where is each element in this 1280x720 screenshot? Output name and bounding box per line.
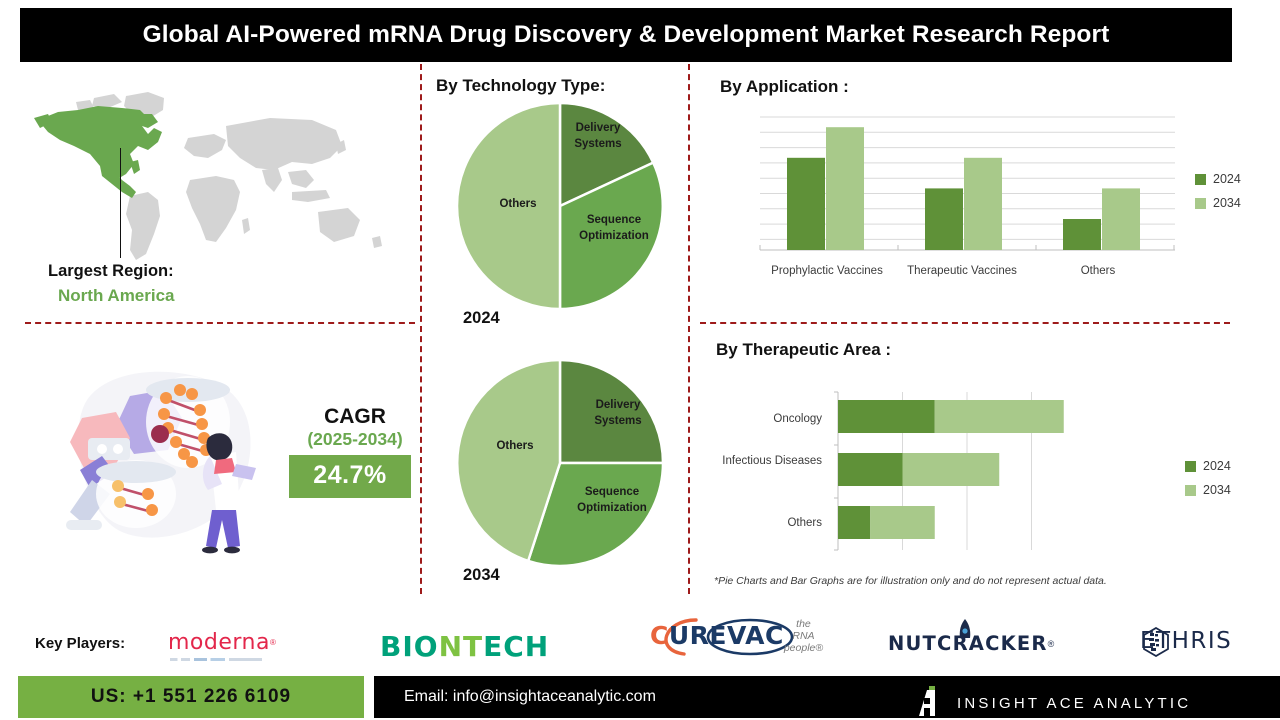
legend-swatch-2024-therapeutic-icon xyxy=(1185,461,1196,472)
insight-ace-brand-text: INSIGHT ACE ANALYTIC xyxy=(957,695,1191,712)
divider-horizontal-left xyxy=(25,322,415,324)
legend-item-2034: 2034 xyxy=(1195,196,1241,210)
logo-nutcracker-text: NUTCRACKER xyxy=(888,632,1048,655)
map-pointer-line xyxy=(120,148,121,258)
logo-biontech: BIO NT ECH xyxy=(380,630,549,663)
logo-ethris-text: ETHRIS xyxy=(1140,628,1232,654)
application-legend: 2024 2034 xyxy=(1195,172,1241,220)
pie-2034-year: 2034 xyxy=(463,566,500,585)
footer-phone: US: +1 551 226 6109 xyxy=(91,686,291,708)
therapeutic-area-bar-chart xyxy=(830,390,1090,558)
legend-swatch-2034-therapeutic-icon xyxy=(1185,485,1196,496)
market-report-infographic: Global AI-Powered mRNA Drug Discovery & … xyxy=(0,0,1280,720)
insight-ace-brand: INSIGHT ACE ANALYTIC xyxy=(915,688,1191,718)
therapeutic-category-1: Infectious Diseases xyxy=(712,454,822,470)
logo-curevac-tagline: the RNA people® xyxy=(784,618,823,654)
logo-moderna: moderna ® xyxy=(168,630,276,655)
legend-label-2034: 2034 xyxy=(1213,196,1241,210)
therapeutic-legend: 2024 2034 xyxy=(1185,459,1231,507)
insight-ace-logo-icon xyxy=(915,686,941,716)
logo-nutcracker-tm: ® xyxy=(1048,639,1055,649)
therapeutic-category-0: Oncology xyxy=(712,412,822,428)
legend-swatch-2024-icon xyxy=(1195,174,1206,185)
world-map xyxy=(30,88,405,268)
legend-swatch-2034-icon xyxy=(1195,198,1206,209)
legend-item-2024: 2024 xyxy=(1195,172,1241,186)
pie-chart-2024 xyxy=(452,98,668,314)
application-category-0: Prophylactic Vaccines xyxy=(762,264,892,280)
key-players-label: Key Players: xyxy=(35,635,125,652)
largest-region-value: North America xyxy=(58,286,175,306)
largest-region-label: Largest Region: xyxy=(48,262,174,281)
therapeutic-category-2: Others xyxy=(712,516,822,532)
logo-biontech-part2: NT xyxy=(439,630,484,663)
page-title: Global AI-Powered mRNA Drug Discovery & … xyxy=(143,21,1110,49)
application-bar-chart xyxy=(750,112,1180,257)
logo-biontech-part1: BIO xyxy=(380,630,439,663)
chart-footnote: *Pie Charts and Bar Graphs are for illus… xyxy=(714,575,1107,587)
application-category-1: Therapeutic Vaccines xyxy=(897,264,1027,280)
legend-label-2024-therapeutic: 2024 xyxy=(1203,459,1231,473)
cagr-value: 24.7% xyxy=(289,455,411,498)
footer-email: Email: info@insightaceanalytic.com xyxy=(404,688,656,706)
cagr-block: CAGR (2025-2034) 24.7% xyxy=(280,405,430,498)
technology-type-title: By Technology Type: xyxy=(436,76,605,96)
logo-curevac: CUREVAC the RNA people® xyxy=(650,616,810,654)
legend-label-2024: 2024 xyxy=(1213,172,1241,186)
logo-moderna-underline xyxy=(170,658,262,661)
footer-phone-block: US: +1 551 226 6109 xyxy=(18,676,364,718)
lab-illustration xyxy=(60,360,275,560)
logo-biontech-part3: ECH xyxy=(483,630,549,663)
pie-chart-2034 xyxy=(452,355,668,571)
application-category-2: Others xyxy=(1033,264,1163,280)
logo-ethris: ETHRIS xyxy=(1140,628,1232,654)
logo-curevac-initial: C xyxy=(650,621,669,650)
cagr-title: CAGR xyxy=(280,405,430,428)
logo-moderna-text: moderna xyxy=(168,630,270,655)
header-bar: Global AI-Powered mRNA Drug Discovery & … xyxy=(20,8,1232,62)
divider-vertical-right xyxy=(688,64,690,594)
cagr-range: (2025-2034) xyxy=(280,428,430,451)
divider-horizontal-right xyxy=(700,322,1230,324)
logo-curevac-text: UREVAC xyxy=(669,621,784,650)
legend-label-2034-therapeutic: 2034 xyxy=(1203,483,1231,497)
legend-item-2034-therapeutic: 2034 xyxy=(1185,483,1231,497)
legend-item-2024-therapeutic: 2024 xyxy=(1185,459,1231,473)
logo-nutcracker: NUTCRACKER ® xyxy=(888,632,1054,655)
pie-2024-year: 2024 xyxy=(463,309,500,328)
divider-vertical-left xyxy=(420,64,422,594)
therapeutic-area-title: By Therapeutic Area : xyxy=(716,340,891,360)
logo-moderna-tm: ® xyxy=(270,638,276,647)
application-title: By Application : xyxy=(720,77,849,97)
